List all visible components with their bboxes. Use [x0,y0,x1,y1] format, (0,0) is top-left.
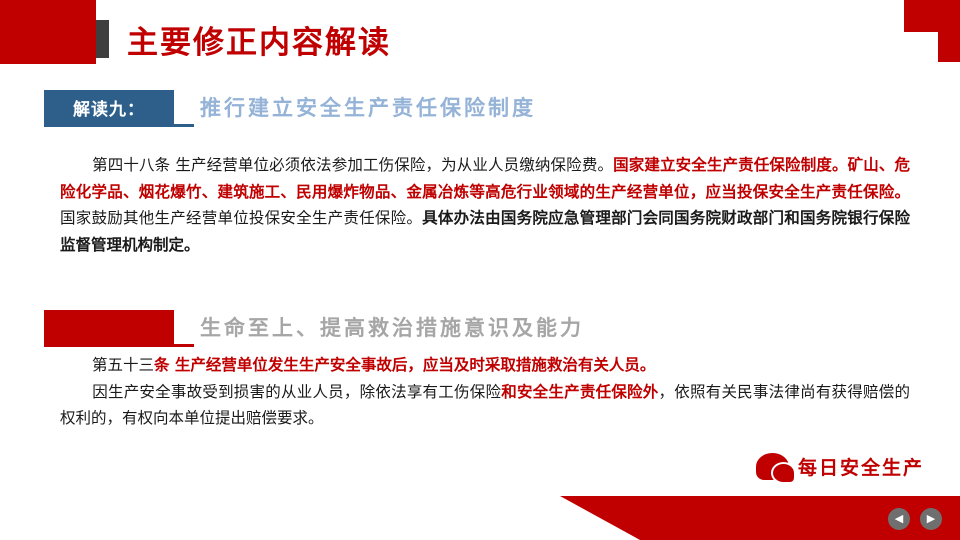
paragraph: 第四十八条 生产经营单位必须依法参加工伤保险，为从业人员缴纳保险费。国家建立安全… [60,152,910,259]
slide-navigation[interactable]: ◀ ▶ [888,508,942,530]
top-right-red-block [904,0,960,32]
text-run: 因生产安全事故受到损害的从业人员，除依法享有工伤保险 [92,383,501,401]
section-tag-label: 解读九： [44,90,174,124]
text-run: 第四十八条 生产经营单位必须依法参加工伤保险，为从业人员缴纳保险费。 [92,156,613,174]
text-run-highlight: 条 生产经营单位发生生产安全事故后，应当及时采取措施救治有关人员。 [154,356,655,374]
text-run: 第五十三 [92,356,154,374]
section-underline [44,124,194,127]
text-run-highlight: 和安全生产责任保险外 [501,383,658,401]
next-arrow-icon[interactable]: ▶ [920,508,942,530]
top-right-red-block-secondary [938,32,960,62]
prev-arrow-icon[interactable]: ◀ [888,508,910,530]
section-jiedu-shi: 解读十： 生命至上、提高救治措施意识及能力 [0,310,960,346]
section-jiedu-jiu: 解读九： 推行建立安全生产责任保险制度 [0,90,960,126]
section-header: 解读十： 生命至上、提高救治措施意识及能力 [0,310,960,346]
top-left-red-block [0,0,96,64]
paragraph: 第五十三条 生产经营单位发生生产安全事故后，应当及时采取措施救治有关人员。 [60,352,910,379]
page-title: 主要修正内容解读 [127,17,391,62]
wechat-badge: 每日安全生产 [756,453,924,480]
paragraph: 因生产安全事故受到损害的从业人员，除依法享有工伤保险和安全生产责任保险外，依照有… [60,379,910,432]
section-title: 推行建立安全生产责任保险制度 [200,92,536,122]
section-title: 生命至上、提高救治措施意识及能力 [200,312,584,342]
wechat-icon [756,453,789,480]
section-tag-label: 解读十： [44,310,174,344]
section-underline [44,344,194,347]
text-run: 国家鼓励其他生产经营单位投保安全生产责任保险。 [60,209,422,227]
title-marker-bar [96,20,109,58]
section-2-body: 第五十三条 生产经营单位发生生产安全事故后，应当及时采取措施救治有关人员。 因生… [60,352,910,432]
section-header: 解读九： 推行建立安全生产责任保险制度 [0,90,960,126]
bottom-white-wedge [0,496,640,540]
wechat-label: 每日安全生产 [798,453,924,480]
section-1-body: 第四十八条 生产经营单位必须依法参加工伤保险，为从业人员缴纳保险费。国家建立安全… [60,152,910,259]
